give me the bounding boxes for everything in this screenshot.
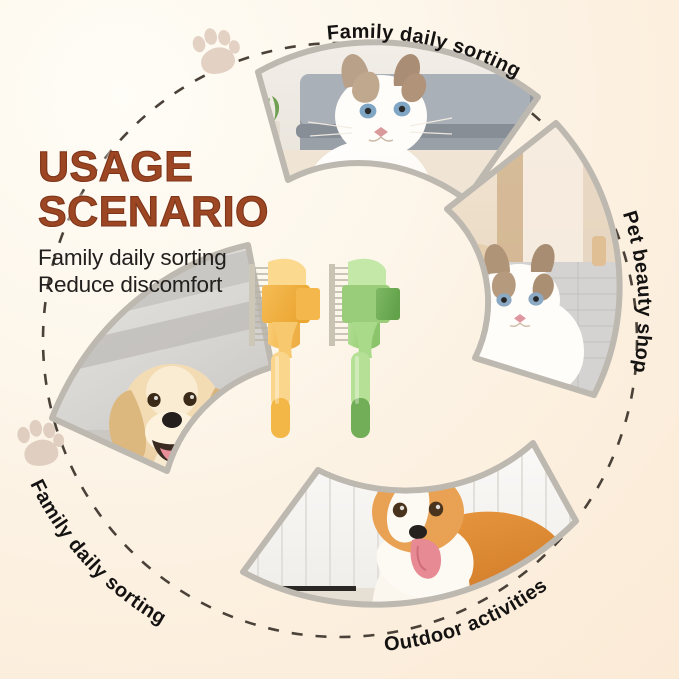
page-subtitle-line-1: Family daily sorting <box>38 244 308 271</box>
headline-block: USAGE SCENARIO Family daily sorting Redu… <box>38 146 308 298</box>
brush-button-green[interactable] <box>376 288 400 320</box>
brush-grip-orange <box>271 398 290 438</box>
page-title-line-2: SCENARIO <box>38 191 308 233</box>
product-brush-green[interactable] <box>329 259 400 438</box>
brush-grip-green <box>351 398 370 438</box>
product-brushes <box>0 0 679 679</box>
page-subtitle-line-2: Reduce discomfort <box>38 271 308 298</box>
infographic-canvas: Family daily sorting Pet beauty shop Out… <box>0 0 679 679</box>
page-title-line-1: USAGE <box>38 146 308 188</box>
